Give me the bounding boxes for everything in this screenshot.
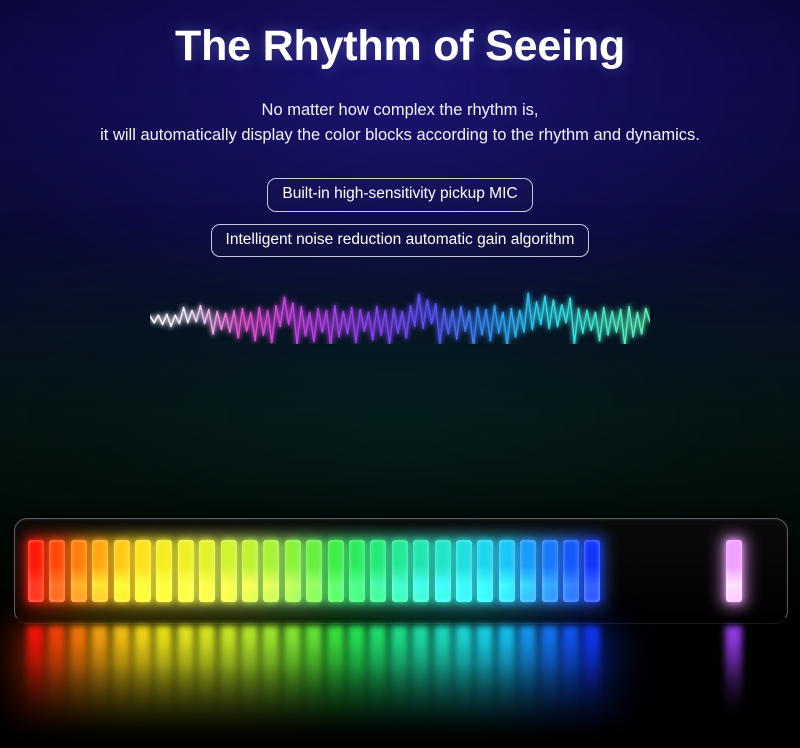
reflection-segment-16	[369, 626, 386, 742]
reflection-segment-15	[348, 626, 365, 742]
led-segment-22	[499, 540, 515, 602]
reflection-segment-24	[541, 626, 558, 742]
reflection-segment-18	[412, 626, 429, 742]
reflection-segment-12	[284, 626, 301, 742]
led-bar-reflection	[14, 626, 786, 742]
led-segment-isolated-pink	[726, 540, 742, 602]
led-segment-7	[178, 540, 194, 602]
led-segment-26	[584, 540, 600, 602]
reflection-segment-14	[327, 626, 344, 742]
led-segment-20	[456, 540, 472, 602]
led-segment-2	[71, 540, 87, 602]
product-poster: The Rhythm of Seeing No matter how compl…	[0, 0, 800, 748]
page-title: The Rhythm of Seeing	[0, 22, 800, 71]
led-segment-11	[263, 540, 279, 602]
reflection-segment-7	[177, 626, 194, 742]
led-segment-25	[563, 540, 579, 602]
led-segment-21	[477, 540, 493, 602]
led-segment-13	[306, 540, 322, 602]
reflection-segment-22	[498, 626, 515, 742]
page-subtitle: No matter how complex the rhythm is, it …	[0, 98, 800, 148]
reflection-segment-3	[91, 626, 108, 742]
led-segment-23	[520, 540, 536, 602]
reflection-segment-11	[262, 626, 279, 742]
led-segment-0	[28, 540, 44, 602]
led-segment-12	[285, 540, 301, 602]
reflection-segment-6	[155, 626, 172, 742]
reflection-segment-26	[583, 626, 600, 742]
led-segment-16	[370, 540, 386, 602]
reflection-segment-13	[305, 626, 322, 742]
subtitle-line-1: No matter how complex the rhythm is,	[0, 98, 800, 123]
reflection-segment-0	[27, 626, 44, 742]
reflection-segment-10	[241, 626, 258, 742]
reflection-segment-23	[519, 626, 536, 742]
reflection-segment-19	[434, 626, 451, 742]
led-segment-19	[435, 540, 451, 602]
led-segment-10	[242, 540, 258, 602]
led-segment-track	[28, 540, 774, 602]
subtitle-line-2: it will automatically display the color …	[0, 123, 800, 148]
reflection-segment-2	[70, 626, 87, 742]
reflection-segment-1	[48, 626, 65, 742]
feature-badge-list: Built-in high-sensitivity pickup MIC Int…	[0, 178, 800, 257]
led-segment-15	[349, 540, 365, 602]
reflection-segment-4	[113, 626, 130, 742]
reflection-segment-17	[391, 626, 408, 742]
led-segment-18	[413, 540, 429, 602]
led-bar-housing[interactable]	[14, 518, 788, 624]
reflection-segment-5	[134, 626, 151, 742]
led-segment-24	[542, 540, 558, 602]
badge-pickup-mic: Built-in high-sensitivity pickup MIC	[267, 178, 532, 212]
led-segment-17	[392, 540, 408, 602]
led-segment-5	[135, 540, 151, 602]
audio-waveform	[150, 282, 650, 344]
reflection-segment-20	[455, 626, 472, 742]
reflection-segment-isolated-pink	[725, 626, 742, 742]
led-segment-14	[328, 540, 344, 602]
led-segment-1	[49, 540, 65, 602]
led-segment-4	[114, 540, 130, 602]
led-segment-8	[199, 540, 215, 602]
badge-noise-reduction: Intelligent noise reduction automatic ga…	[211, 224, 590, 258]
reflection-segment-21	[476, 626, 493, 742]
reflection-segment-9	[220, 626, 237, 742]
reflection-segment-8	[198, 626, 215, 742]
led-segment-9	[221, 540, 237, 602]
reflection-segment-25	[562, 626, 579, 742]
led-segment-3	[92, 540, 108, 602]
led-segment-6	[156, 540, 172, 602]
